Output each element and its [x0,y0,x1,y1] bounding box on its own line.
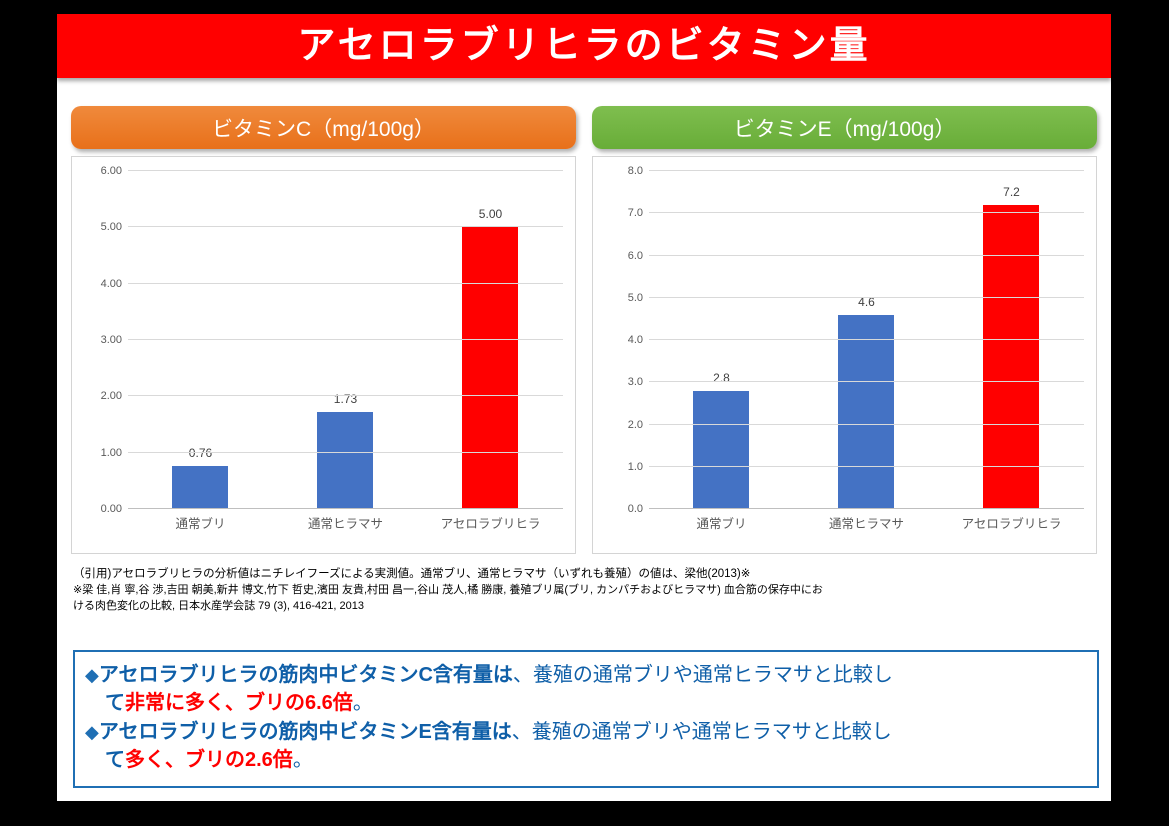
plot-area-vitamin-c: 0.761.735.00 [128,171,563,509]
chart-frame-vitamin-e: 0.01.02.03.04.05.06.07.08.0 2.84.67.2 通常… [592,156,1097,554]
gridline [128,283,563,284]
y-axis-tick-label: 2.00 [101,390,122,402]
panel-header-label-vitamin-c: ビタミンC（mg/100g） [212,113,435,143]
gridline [649,381,1084,382]
summary-bullet-2-prefix: て [105,749,125,771]
gridline [649,212,1084,213]
bar-value-label: 1.73 [334,392,357,406]
y-axis-vitamin-e: 0.01.02.03.04.05.06.07.08.0 [601,171,643,509]
gridline [128,339,563,340]
bar-group-vitamin-e: 2.84.67.2 [649,171,1084,509]
y-axis-tick-label: 3.0 [628,376,643,388]
y-axis-tick-label: 5.00 [101,221,122,233]
bar: 0.76 [172,466,228,509]
panel-vitamin-e: ビタミンE（mg/100g） 0.01.02.03.04.05.06.07.08… [592,106,1097,554]
bar: 5.00 [462,227,518,509]
y-axis-tick-label: 1.00 [101,447,122,459]
y-axis-tick-label: 8.0 [628,165,643,177]
page-title: アセロラブリヒラのビタミン量 [297,27,870,65]
bar-slot: 5.00 [418,171,563,509]
summary-bullet-1-line-2: て非常に多く、ブリの6.6倍。 [85,689,1087,717]
bar: 4.6 [838,315,894,509]
x-axis-category-label: 通常ヒラマサ [794,513,939,537]
summary-bullet-2-line-1: ◆アセロラブリヒラの筋肉中ビタミンE含有量は、養殖の通常ブリや通常ヒラマサと比較… [85,718,1087,746]
bar-value-label: 7.2 [1003,185,1020,199]
bar: 7.2 [983,205,1039,509]
citation-line-3: ける肉色変化の比較, 日本水産学会誌 79 (3), 416-421, 2013 [73,599,1097,615]
gridline [649,170,1084,171]
gridline [649,255,1084,256]
panel-header-vitamin-c: ビタミンC（mg/100g） [71,106,576,149]
summary-bullet-1-strong: アセロラブリヒラの筋肉中ビタミンC含有量は [99,664,513,686]
summary-bullet-2-strong: アセロラブリヒラの筋肉中ビタミンE含有量は [99,721,512,743]
summary-bullet-2-suffix: 。 [293,749,313,771]
summary-bullet-2-line-2: て多く、ブリの2.6倍。 [85,746,1087,774]
y-axis-tick-label: 0.0 [628,503,643,515]
chart-frame-vitamin-c: 0.001.002.003.004.005.006.00 0.761.735.0… [71,156,576,554]
summary-box: ◆アセロラブリヒラの筋肉中ビタミンC含有量は、養殖の通常ブリや通常ヒラマサと比較… [73,650,1099,788]
y-axis-vitamin-c: 0.001.002.003.004.005.006.00 [80,171,122,509]
summary-bullet-2-normal: 、養殖の通常ブリや通常ヒラマサと比較し [512,721,892,743]
bar-value-label: 5.00 [479,207,502,221]
gridline [649,339,1084,340]
panel-header-label-vitamin-e: ビタミンE（mg/100g） [734,113,956,143]
y-axis-tick-label: 2.0 [628,419,643,431]
y-axis-tick-label: 4.00 [101,278,122,290]
plot-area-vitamin-e: 2.84.67.2 [649,171,1084,509]
gridline [649,297,1084,298]
bar: 1.73 [317,412,373,509]
gridline [128,508,563,509]
bar-group-vitamin-c: 0.761.735.00 [128,171,563,509]
bar-slot: 4.6 [794,171,939,509]
bar-slot: 1.73 [273,171,418,509]
panel-header-vitamin-e: ビタミンE（mg/100g） [592,106,1097,149]
summary-bullet-1-normal: 、養殖の通常ブリや通常ヒラマサと比較し [513,664,893,686]
y-axis-tick-label: 6.0 [628,250,643,262]
x-axis-category-label: 通常ヒラマサ [273,513,418,537]
bar-value-label: 0.76 [189,446,212,460]
x-axis-category-label: 通常ブリ [649,513,794,537]
bar-slot: 0.76 [128,171,273,509]
bullet-diamond-icon-2: ◆ [85,722,99,742]
gridline [128,452,563,453]
bar-slot: 7.2 [939,171,1084,509]
charts-row: ビタミンC（mg/100g） 0.001.002.003.004.005.006… [71,106,1097,554]
summary-bullet-2-highlight: 多く、ブリの2.6倍 [125,749,293,771]
y-axis-tick-label: 0.00 [101,503,122,515]
citation-block: （引用)アセロラブリヒラの分析値はニチレイフーズによる実測値。通常ブリ、通常ヒラ… [73,566,1097,615]
citation-line-1: （引用)アセロラブリヒラの分析値はニチレイフーズによる実測値。通常ブリ、通常ヒラ… [73,566,1097,583]
slide-canvas: アセロラブリヒラのビタミン量 ビタミンC（mg/100g） 0.001.002.… [57,14,1111,801]
summary-bullet-1-line-1: ◆アセロラブリヒラの筋肉中ビタミンC含有量は、養殖の通常ブリや通常ヒラマサと比較… [85,661,1087,689]
bar: 2.8 [693,391,749,509]
bar-slot: 2.8 [649,171,794,509]
y-axis-tick-label: 5.0 [628,292,643,304]
y-axis-tick-label: 4.0 [628,334,643,346]
citation-line-2: ※梁 佳,肖 寧,谷 渉,吉田 朝美,新井 博文,竹下 哲史,濱田 友貴,村田 … [73,583,1097,599]
gridline [649,466,1084,467]
gridline [128,170,563,171]
bullet-diamond-icon-1: ◆ [85,665,99,685]
y-axis-tick-label: 1.0 [628,461,643,473]
gridline [649,508,1084,509]
y-axis-tick-label: 3.00 [101,334,122,346]
summary-bullet-1-suffix: 。 [353,692,373,714]
x-axis-category-label: 通常ブリ [128,513,273,537]
gridline [128,226,563,227]
x-axis-labels-vitamin-e: 通常ブリ通常ヒラマサアセロラブリヒラ [649,513,1084,537]
summary-bullet-1-prefix: て [105,692,125,714]
x-axis-labels-vitamin-c: 通常ブリ通常ヒラマサアセロラブリヒラ [128,513,563,537]
gridline [128,395,563,396]
summary-bullet-1-highlight: 非常に多く、ブリの6.6倍 [125,692,353,714]
bar-value-label: 2.8 [713,371,730,385]
y-axis-tick-label: 6.00 [101,165,122,177]
gridline [649,424,1084,425]
slide-title-banner: アセロラブリヒラのビタミン量 [57,14,1111,78]
panel-vitamin-c: ビタミンC（mg/100g） 0.001.002.003.004.005.006… [71,106,576,554]
x-axis-category-label: アセロラブリヒラ [418,513,563,537]
y-axis-tick-label: 7.0 [628,207,643,219]
x-axis-category-label: アセロラブリヒラ [939,513,1084,537]
